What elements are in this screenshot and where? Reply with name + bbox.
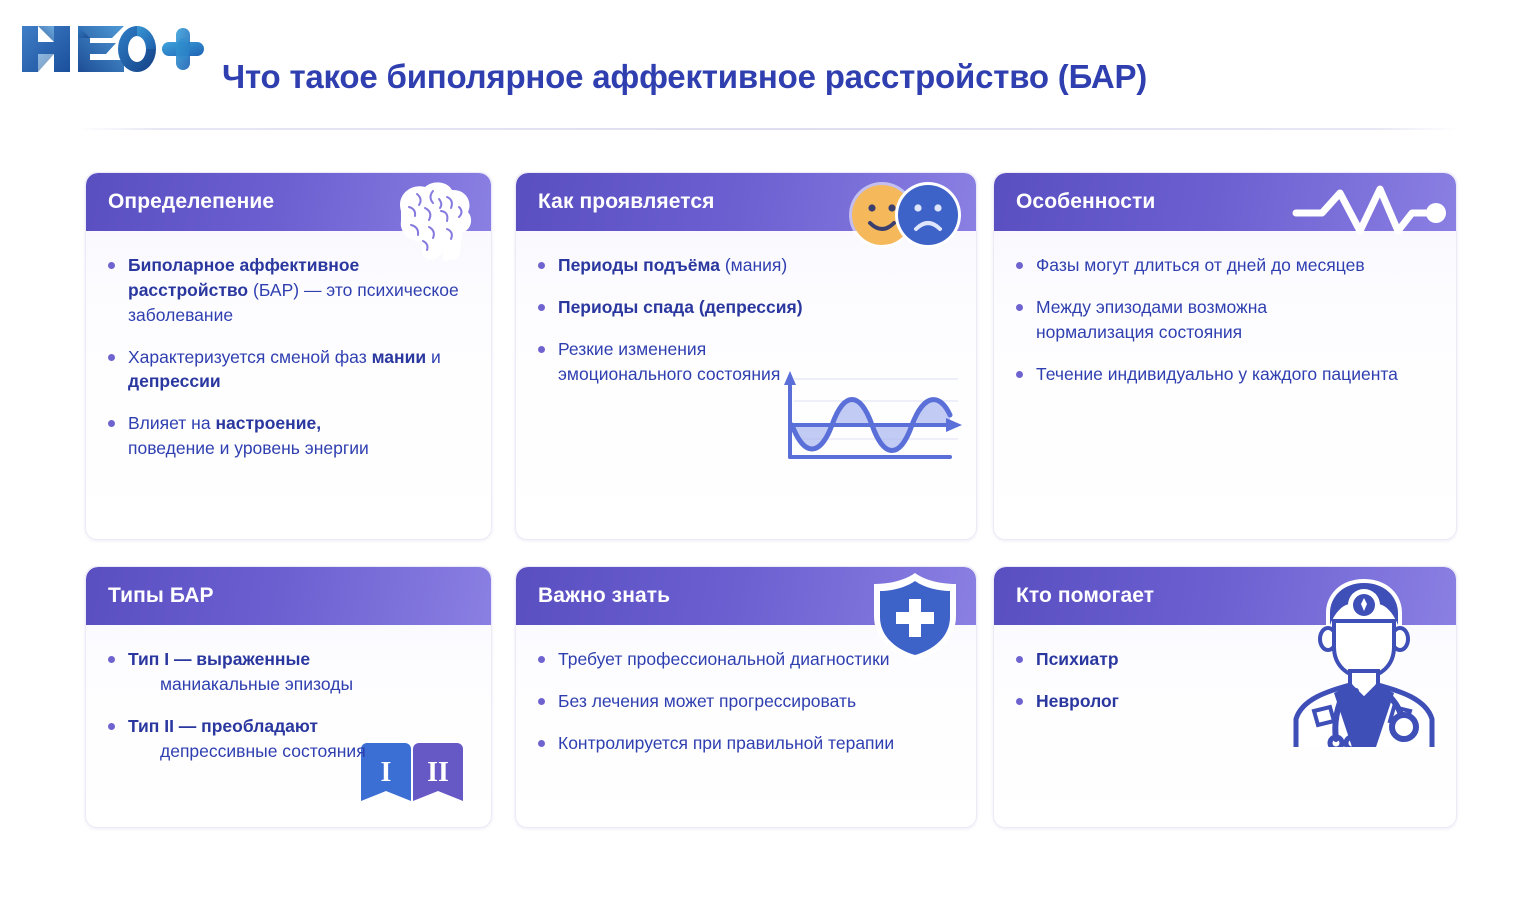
- definition-b3-tail: поведение и уровень энергии: [128, 438, 369, 458]
- list-item: Без лечения может прогрессировать: [536, 689, 956, 714]
- list-item: Течение индивидуально у каждого пациента: [1014, 362, 1436, 387]
- types-b1-sub: маниакальные эпизоды: [128, 672, 471, 697]
- card-definition-title: Определепение: [108, 190, 274, 214]
- card-definition: Определепение: [85, 172, 492, 540]
- definition-b2-lead: Характеризуется сменой фаз: [128, 347, 372, 367]
- infographic-page: Что такое биполярное аффективное расстро…: [0, 0, 1536, 922]
- list-item: Биполарное аффективное расстройство (БАР…: [106, 253, 471, 328]
- card-important: Важно знать Требует профессиональной диа…: [515, 566, 977, 828]
- types-b2-strong: Тип II — преобладают: [128, 716, 318, 736]
- card-features-title: Особенности: [1016, 190, 1155, 214]
- card-types: Типы БАР I II Тип I — выраженные маниака: [85, 566, 492, 828]
- card-features-bullets: Фазы могут длиться от дней до месяцев Ме…: [1014, 253, 1436, 386]
- symptoms-b2-strong: Периоды спада (депрессия): [558, 297, 803, 317]
- symptoms-b1-strong: Периоды подъёма: [558, 255, 720, 275]
- symptoms-b1-rest: (мания): [720, 255, 787, 275]
- card-important-bullets: Требует профессиональной диагностики Без…: [536, 647, 956, 756]
- list-item: Резкие изменения эмоционального состояни…: [536, 337, 956, 387]
- features-b2-line1: Между эпизодами возможна: [1036, 297, 1267, 317]
- list-item: Влияет на настроение, поведение и уровен…: [106, 411, 471, 461]
- list-item: Фазы могут длиться от дней до месяцев: [1014, 253, 1436, 278]
- list-item: Требует профессиональной диагностики: [536, 647, 956, 672]
- card-types-title: Типы БАР: [108, 584, 214, 608]
- definition-b2-strong: мании: [372, 347, 427, 367]
- card-symptoms-title: Как проявляется: [538, 190, 714, 214]
- features-b3: Течение индивидуально у каждого пациента: [1036, 364, 1398, 384]
- list-item: Тип I — выраженные маниакальные эпизоды: [106, 647, 471, 697]
- whohelps-b1: Психиатр: [1036, 649, 1119, 669]
- important-b2: Без лечения может прогрессировать: [558, 691, 856, 711]
- card-whohelps: Кто помогает: [993, 566, 1457, 828]
- types-b2-sub: депрессивные состояния: [128, 739, 471, 764]
- definition-b3-lead: Влияет на: [128, 413, 215, 433]
- list-item: Между эпизодами возможна нормализация со…: [1014, 295, 1436, 345]
- definition-b2-mid: и: [426, 347, 441, 367]
- list-item: Контролируется при правильной терапии: [536, 731, 956, 756]
- cards-grid: Определепение: [0, 0, 1536, 922]
- types-b1-strong: Тип I — выраженные: [128, 649, 310, 669]
- symptoms-b3-line1: Резкие изменения: [558, 339, 706, 359]
- card-symptoms-bullets: Периоды подъёма (мания) Периоды спада (д…: [536, 253, 956, 386]
- definition-b2-strong2: депрессии: [128, 371, 221, 391]
- definition-b1-strong: Биполарное аффективное: [128, 255, 359, 275]
- card-features: Особенности Фазы могут длиться от дней д…: [993, 172, 1457, 540]
- important-b3: Контролируется при правильной терапии: [558, 733, 894, 753]
- important-b1: Требует профессиональной диагностики: [558, 649, 890, 669]
- symptoms-b3-line2: эмоционального состояния: [558, 364, 780, 384]
- definition-b1-strong2: расстройство: [128, 280, 248, 300]
- card-important-title: Важно знать: [538, 584, 670, 608]
- list-item: Тип II — преобладают депрессивные состоя…: [106, 714, 471, 764]
- card-types-bullets: Тип I — выраженные маниакальные эпизоды …: [106, 647, 471, 763]
- definition-b3-strong: настроение,: [215, 413, 321, 433]
- card-types-header: Типы БАР: [86, 567, 491, 625]
- card-whohelps-bullets: Психиатр Невролог: [1014, 647, 1436, 714]
- features-b1: Фазы могут длиться от дней до месяцев: [1036, 255, 1365, 275]
- list-item: Невролог: [1014, 689, 1436, 714]
- features-b2-line2: нормализация состояния: [1036, 322, 1242, 342]
- list-item: Периоды спада (депрессия): [536, 295, 956, 320]
- list-item: Периоды подъёма (мания): [536, 253, 956, 278]
- list-item: Характеризуется сменой фаз мании и депре…: [106, 345, 471, 395]
- card-definition-bullets: Биполарное аффективное расстройство (БАР…: [106, 253, 471, 461]
- card-symptoms: Как проявляется: [515, 172, 977, 540]
- card-whohelps-title: Кто помогает: [1016, 584, 1154, 608]
- whohelps-b2: Невролог: [1036, 691, 1119, 711]
- list-item: Психиатр: [1014, 647, 1436, 672]
